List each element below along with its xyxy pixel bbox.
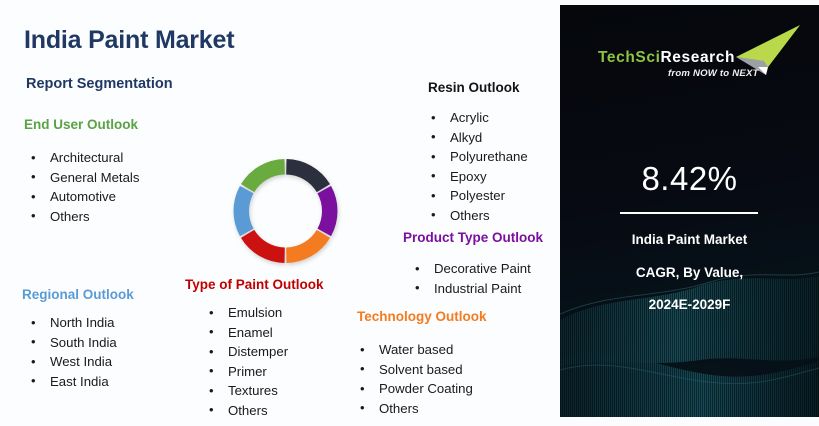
- divider-rule: [620, 212, 758, 214]
- list-item: Polyester: [428, 186, 528, 206]
- cagr-caption-line-3: 2024E-2029F: [560, 297, 819, 312]
- donut-chart: [229, 156, 342, 266]
- list-item: Polyurethane: [428, 147, 528, 167]
- list-item: General Metals: [28, 168, 139, 188]
- list-item: Automotive: [28, 187, 139, 207]
- brand-panel: TechSciResearch from NOW to NEXT 8.42% I…: [560, 5, 819, 417]
- logo-text-primary: TechSci: [598, 49, 661, 66]
- list-resin: Acrylic Alkyd Polyurethane Epoxy Polyest…: [428, 108, 528, 226]
- section-heading-end-user: End User Outlook: [24, 117, 138, 132]
- logo-wordmark: TechSciResearch: [598, 49, 735, 67]
- logo-text-secondary: Research: [661, 49, 736, 66]
- list-item: Decorative Paint: [412, 259, 531, 279]
- donut-segment: [241, 230, 285, 263]
- list-item: Enamel: [206, 323, 288, 343]
- page-title: India Paint Market: [24, 26, 234, 55]
- list-item: Others: [357, 399, 473, 419]
- donut-chart-svg: [229, 156, 342, 266]
- cagr-caption-line-2: CAGR, By Value,: [560, 265, 819, 280]
- list-item: South India: [28, 333, 117, 353]
- cagr-value: 8.42%: [560, 160, 819, 198]
- list-item: Alkyd: [428, 128, 528, 148]
- list-item: Others: [206, 401, 288, 421]
- list-regional: North India South India West India East …: [28, 313, 117, 391]
- donut-segment: [234, 186, 254, 236]
- wave-mesh-graphic: [560, 262, 819, 417]
- donut-segment: [241, 159, 285, 192]
- list-item: Solvent based: [357, 360, 473, 380]
- list-item: Powder Coating: [357, 379, 473, 399]
- donut-segment: [286, 159, 330, 192]
- logo-tagline: from NOW to NEXT: [668, 68, 759, 79]
- section-heading-resin: Resin Outlook: [428, 80, 520, 95]
- list-item: Distemper: [206, 342, 288, 362]
- section-heading-type-of-paint: Type of Paint Outlook: [185, 277, 324, 292]
- cagr-caption-line-1: India Paint Market: [560, 232, 819, 247]
- list-item: East India: [28, 372, 117, 392]
- list-technology: Water based Solvent based Powder Coating…: [357, 340, 473, 418]
- list-item: West India: [28, 352, 117, 372]
- list-end-user: Architectural General Metals Automotive …: [28, 148, 139, 226]
- list-type-of-paint: Emulsion Enamel Distemper Primer Texture…: [206, 303, 288, 421]
- list-item: Others: [28, 207, 139, 227]
- content-area: India Paint Market Report Segmentation E…: [0, 0, 560, 426]
- list-item: Architectural: [28, 148, 139, 168]
- list-item: Emulsion: [206, 303, 288, 323]
- list-item: Water based: [357, 340, 473, 360]
- list-item: Industrial Paint: [412, 279, 531, 299]
- donut-segments: [234, 159, 338, 263]
- donut-segment: [286, 230, 330, 263]
- list-item: Acrylic: [428, 108, 528, 128]
- brand-logo: TechSciResearch from NOW to NEXT: [560, 23, 819, 85]
- report-subtitle: Report Segmentation: [26, 76, 173, 92]
- list-item: Others: [428, 206, 528, 226]
- section-heading-regional: Regional Outlook: [22, 287, 134, 302]
- section-heading-product-type: Product Type Outlook: [403, 230, 543, 245]
- donut-segment: [317, 186, 337, 236]
- list-item: Textures: [206, 381, 288, 401]
- list-item: Primer: [206, 362, 288, 382]
- list-product-type: Decorative Paint Industrial Paint: [412, 259, 531, 298]
- list-item: North India: [28, 313, 117, 333]
- infographic-root: India Paint Market Report Segmentation E…: [0, 0, 819, 426]
- list-item: Epoxy: [428, 167, 528, 187]
- section-heading-technology: Technology Outlook: [357, 309, 487, 324]
